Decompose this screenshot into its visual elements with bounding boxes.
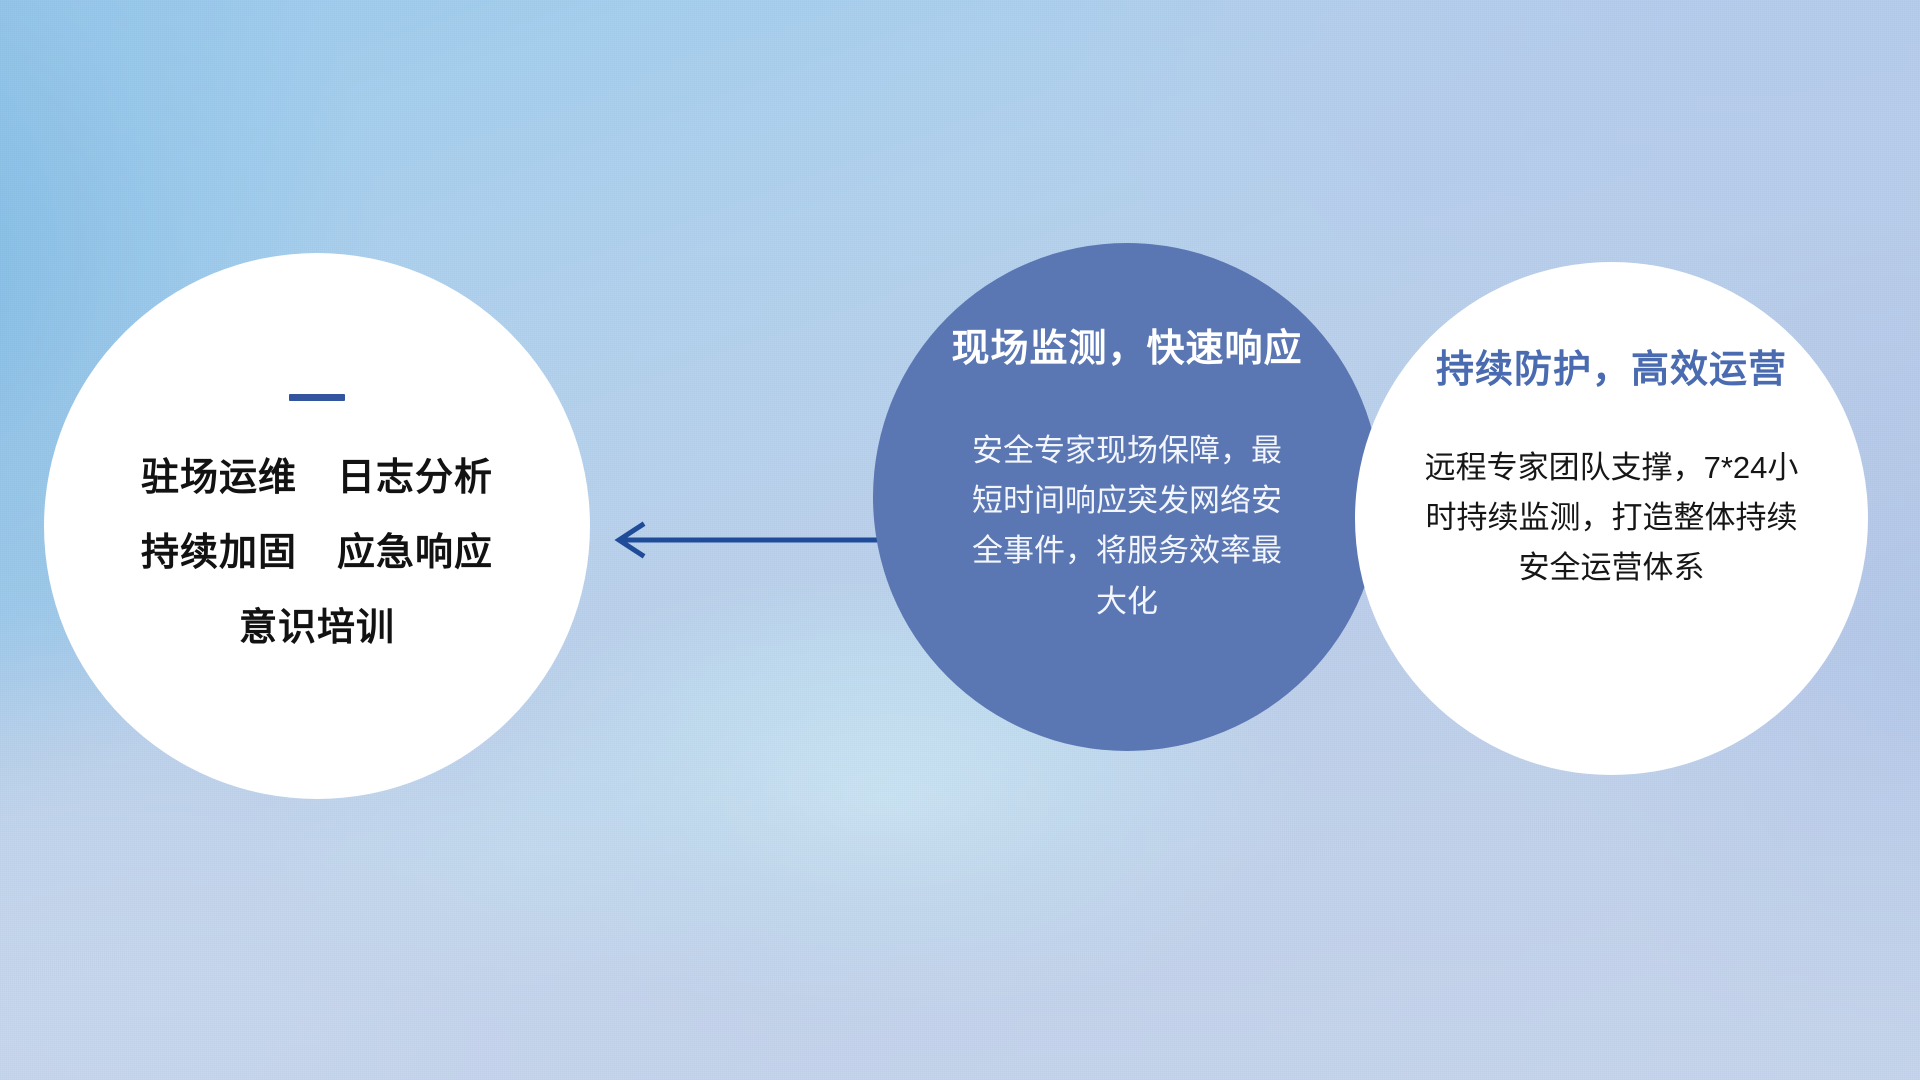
onsite-monitoring-content: 现场监测，快速响应 安全专家现场保障，最短时间响应突发网络安全事件，将服务效率最… xyxy=(873,243,1381,751)
horizontal-rule-icon xyxy=(289,394,345,401)
keyword-row: 意识培训 xyxy=(239,599,395,658)
keyword-chip: 持续加固 xyxy=(141,524,297,583)
continuous-protection-card: 持续防护，高效运营 远程专家团队支撑，7*24小时持续监测，打造整体持续安全运营… xyxy=(1355,262,1868,775)
keyword-chip: 应急响应 xyxy=(337,524,493,583)
keyword-chip: 驻场运维 xyxy=(141,449,297,508)
continuous-protection-content: 持续防护，高效运营 远程专家团队支撑，7*24小时持续监测，打造整体持续安全运营… xyxy=(1355,262,1868,775)
keyword-chip: 意识培训 xyxy=(239,599,395,658)
continuous-protection-body: 远程专家团队支撑，7*24小时持续监测，打造整体持续安全运营体系 xyxy=(1412,443,1812,594)
continuous-protection-title: 持续防护，高效运营 xyxy=(1436,338,1787,393)
capabilities-card-content: 驻场运维 日志分析 持续加固 应急响应 意识培训 xyxy=(44,253,590,799)
onsite-monitoring-card: 现场监测，快速响应 安全专家现场保障，最短时间响应突发网络安全事件，将服务效率最… xyxy=(873,243,1381,751)
onsite-monitoring-title: 现场监测，快速响应 xyxy=(951,317,1302,372)
capabilities-card: 驻场运维 日志分析 持续加固 应急响应 意识培训 xyxy=(44,253,590,799)
onsite-monitoring-body: 安全专家现场保障，最短时间响应突发网络安全事件，将服务效率最大化 xyxy=(967,426,1287,627)
keyword-row: 持续加固 应急响应 xyxy=(141,524,493,583)
keyword-chip: 日志分析 xyxy=(337,449,493,508)
infographic-slide: 驻场运维 日志分析 持续加固 应急响应 意识培训 现场监测，快速响应 安全专家现… xyxy=(0,0,1920,1080)
keyword-row: 驻场运维 日志分析 xyxy=(141,449,493,508)
arrow-left-icon xyxy=(596,512,886,568)
